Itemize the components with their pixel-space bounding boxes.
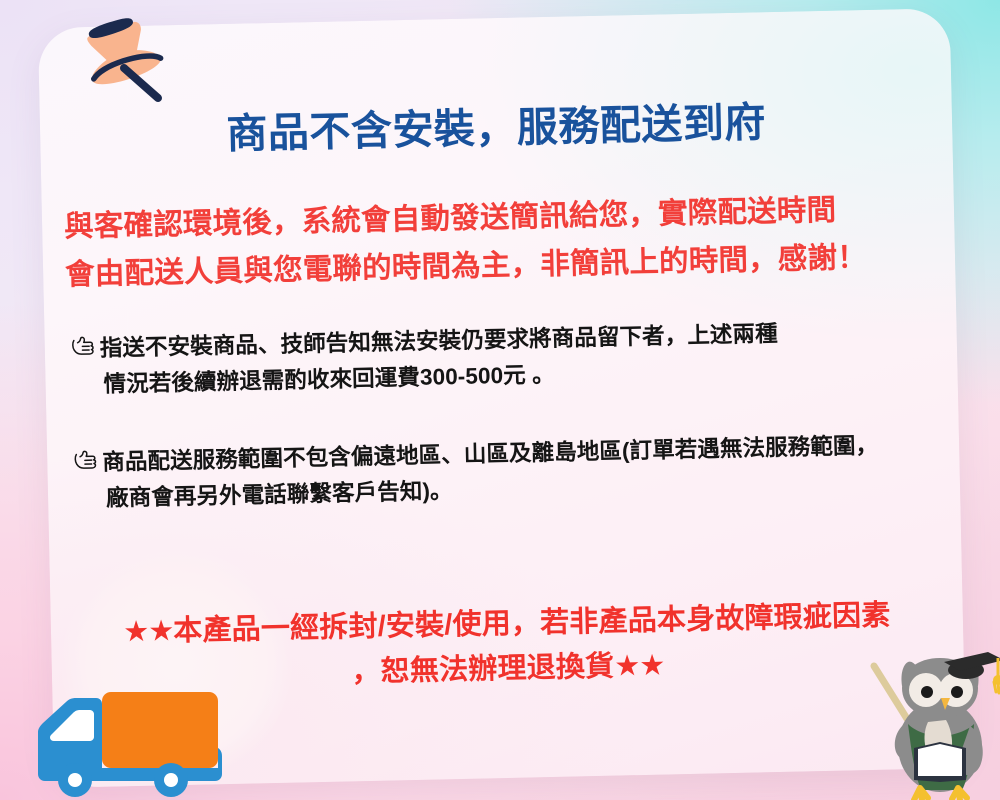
list-item: 指送不安裝商品、技師告知無法安裝仍要求將商品留下者，上述兩種 情況若後續辦退需酌… [70, 312, 947, 402]
delivery-notice-paragraph: 與客確認環境後，系統會自動發送簡訊給您，實際配送時間 會由配送人員與您電聯的時間… [64, 184, 938, 299]
warning-text-2: ，恕無法辦理退換貨 [351, 651, 614, 689]
warning-text-1: 本產品一經拆封/安裝/使用，若非產品本身故障瑕疵因素 [173, 600, 891, 648]
list-item: 商品配送服務範圍不包含偏遠地區、山區及離島地區(訂單若遇無法服務範圍， 廠商會再… [73, 426, 950, 516]
star-suffix: ★★ [614, 649, 665, 682]
pointing-hand-icon [71, 334, 98, 359]
delivery-truck-icon [18, 686, 233, 798]
pointing-hand-icon [73, 448, 100, 473]
graduate-owl-mascot [858, 648, 1000, 800]
star-prefix: ★★ [123, 615, 174, 648]
notice-card-content: 商品不含安裝，服務配送到府 與客確認環境後，系統會自動發送簡訊給您，實際配送時間… [38, 8, 966, 788]
pushpin-icon [62, 8, 174, 104]
poster-canvas: 商品不含安裝，服務配送到府 與客確認環境後，系統會自動發送簡訊給您，實際配送時間… [0, 0, 1000, 800]
page-title: 商品不含安裝，服務配送到府 [39, 84, 952, 164]
